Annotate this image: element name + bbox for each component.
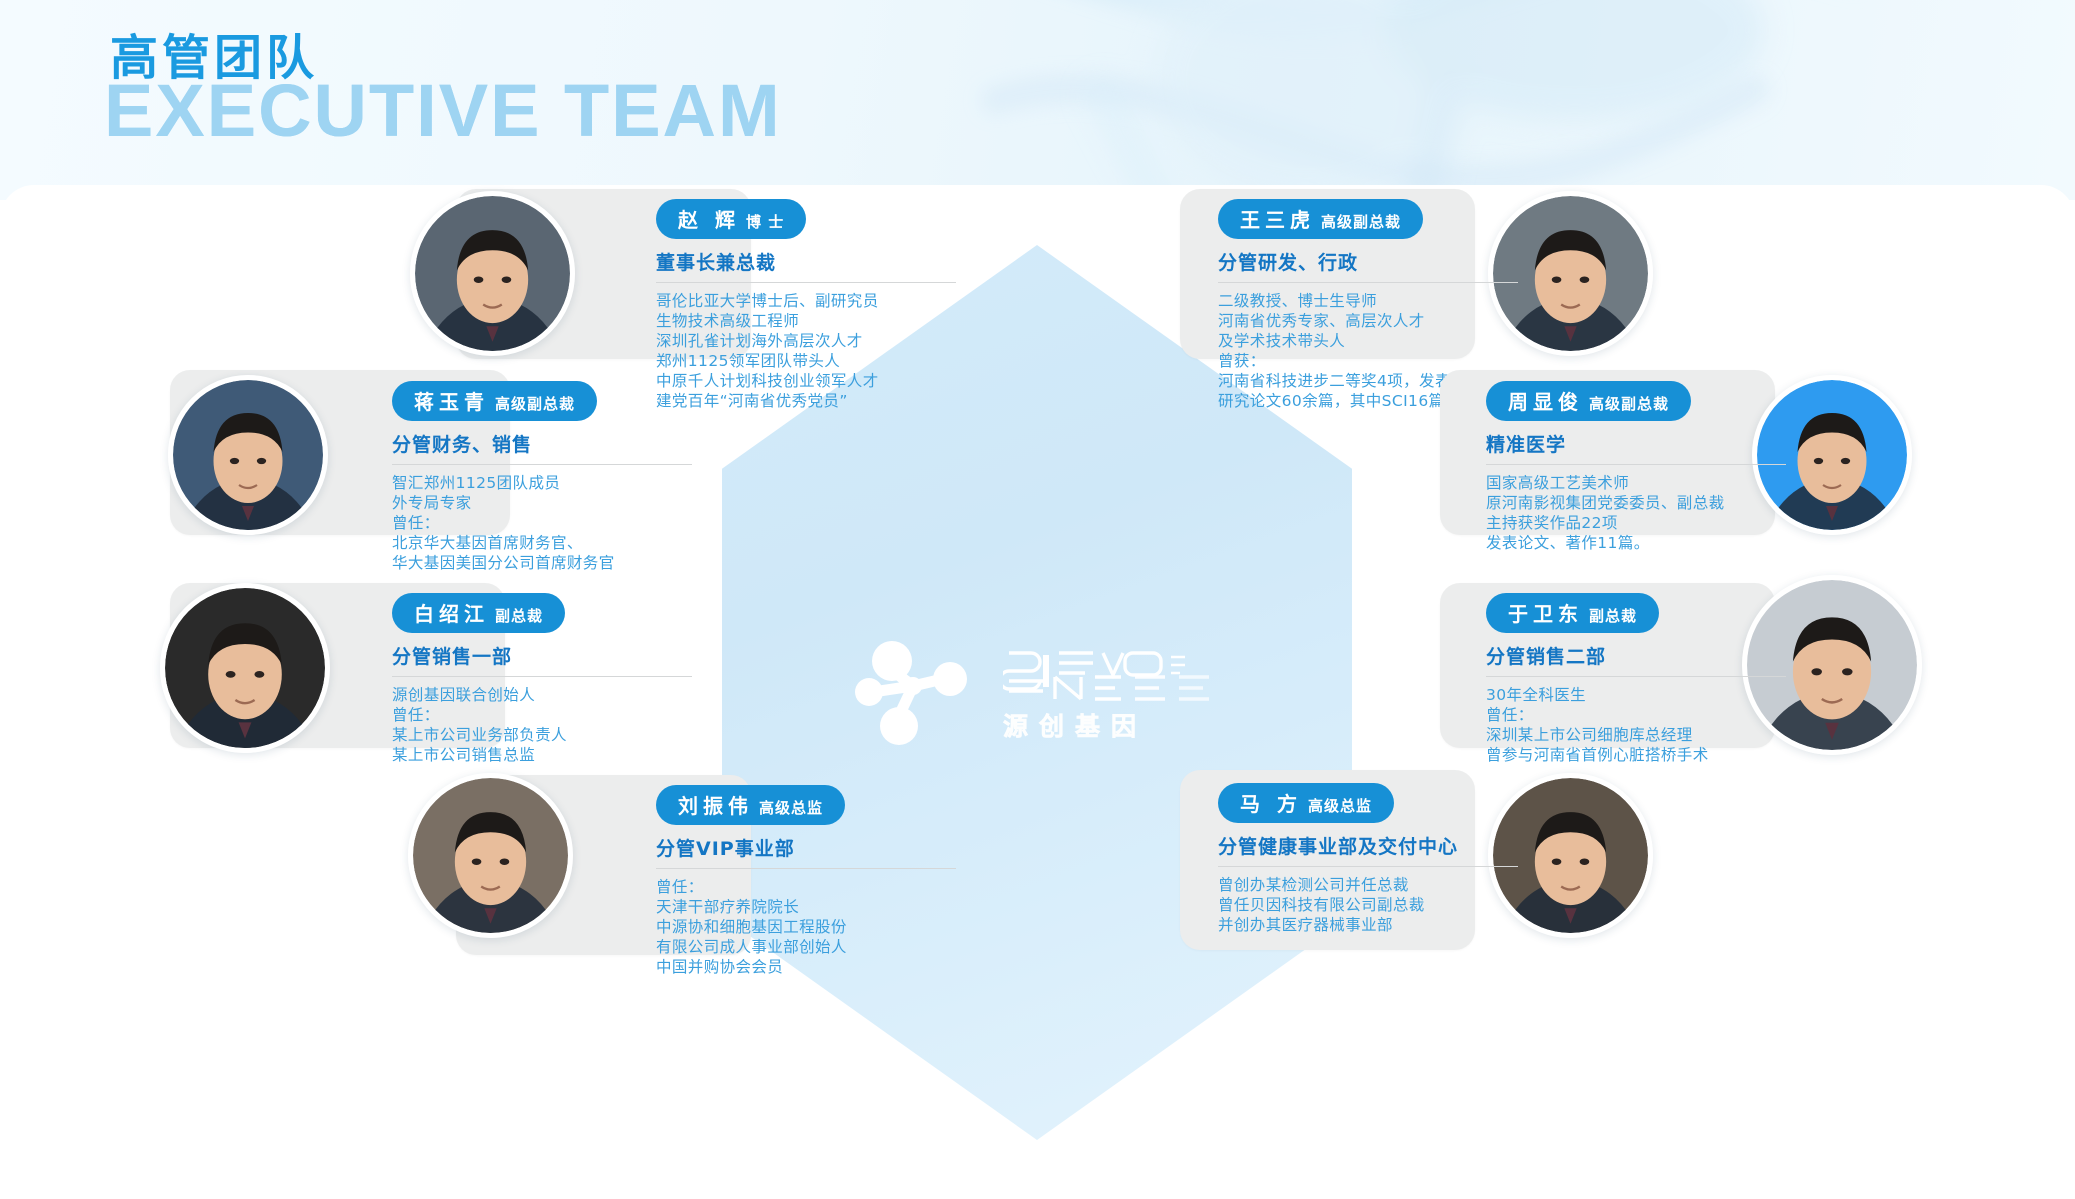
member-bio-line: 曾任： xyxy=(1486,705,1786,725)
member-photo[interactable] xyxy=(410,191,575,356)
logo-wordmark xyxy=(1003,641,1223,703)
member-bio-line: 华大基因美国分公司首席财务官 xyxy=(392,553,692,573)
member-name: 刘振伟 xyxy=(678,794,753,818)
member-name: 白绍江 xyxy=(414,602,489,626)
member-bio-line: 某上市公司业务部负责人 xyxy=(392,725,692,745)
member-photo[interactable] xyxy=(408,773,573,938)
member-role: 董事长兼总裁 xyxy=(656,248,956,275)
member-role: 分管健康事业部及交付中心 xyxy=(1218,832,1518,859)
divider xyxy=(1218,866,1518,867)
divider xyxy=(1486,676,1786,677)
member-name: 王三虎 xyxy=(1240,208,1315,232)
member-bio: 哥伦比亚大学博士后、副研究员生物技术高级工程师深圳孔雀计划海外高层次人才郑州11… xyxy=(656,291,956,411)
divider xyxy=(656,868,956,869)
member-role: 分管财务、销售 xyxy=(392,430,692,457)
member-title: 高级副总裁 xyxy=(1321,213,1401,231)
member-bio-line: 天津干部疗养院院长 xyxy=(656,897,956,917)
member-bio-line: 深圳某上市公司细胞库总经理 xyxy=(1486,725,1786,745)
member-bio-line: 中原千人计划科技创业领军人才 xyxy=(656,371,956,391)
member-info: 于卫东副总裁 分管销售二部 30年全科医生曾任：深圳某上市公司细胞库总经理曾参与… xyxy=(1486,593,1786,765)
member-bio-line: 河南省优秀专家、高层次人才 xyxy=(1218,311,1518,331)
team-stage: 源创基因 赵 辉博 士 董事长兼总裁 哥伦比亚大学博士后、副研究员生物技术 xyxy=(0,185,2075,1199)
member-bio-line: 曾任： xyxy=(392,513,692,533)
member-info: 赵 辉博 士 董事长兼总裁 哥伦比亚大学博士后、副研究员生物技术高级工程师深圳孔… xyxy=(656,199,956,411)
member-bio-line: 源创基因联合创始人 xyxy=(392,685,692,705)
member-bio-line: 二级教授、博士生导师 xyxy=(1218,291,1518,311)
member-badge: 白绍江副总裁 xyxy=(392,593,565,633)
member-bio-line: 深圳孔雀计划海外高层次人才 xyxy=(656,331,956,351)
member-bio-line: 曾获： xyxy=(1218,351,1518,371)
member-bio-line: 某上市公司销售总监 xyxy=(392,745,692,765)
molecule-logo-icon xyxy=(851,634,979,750)
divider xyxy=(656,282,956,283)
divider xyxy=(1486,464,1786,465)
member-badge: 蒋玉青高级副总裁 xyxy=(392,381,597,421)
dna-helix-graphic xyxy=(875,0,2075,200)
member-role: 精准医学 xyxy=(1486,430,1786,457)
member-bio-line: 30年全科医生 xyxy=(1486,685,1786,705)
member-name: 周显俊 xyxy=(1508,390,1583,414)
member-title: 高级副总裁 xyxy=(495,395,575,413)
divider xyxy=(1218,282,1518,283)
member-bio-line: 曾任： xyxy=(656,877,956,897)
member-bio-line: 中国并购协会会员 xyxy=(656,957,956,977)
member-bio-line: 外专局专家 xyxy=(392,493,692,513)
member-bio: 国家高级工艺美术师原河南影视集团党委委员、副总裁主持获奖作品22项发表论文、著作… xyxy=(1486,473,1786,553)
member-title: 副总裁 xyxy=(495,607,543,625)
member-bio-line: 哥伦比亚大学博士后、副研究员 xyxy=(656,291,956,311)
member-info: 马 方高级总监 分管健康事业部及交付中心 曾创办某检测公司并任总裁曾任贝因科技有… xyxy=(1218,783,1518,935)
page-header: 高管团队 EXECUTIVE TEAM xyxy=(0,0,2075,200)
member-bio: 智汇郑州1125团队成员外专局专家曾任：北京华大基因首席财务官、华大基因美国分公… xyxy=(392,473,692,573)
member-title: 副总裁 xyxy=(1589,607,1637,625)
divider xyxy=(392,464,692,465)
member-photo[interactable] xyxy=(160,583,330,753)
member-bio: 30年全科医生曾任：深圳某上市公司细胞库总经理曾参与河南省首例心脏搭桥手术 xyxy=(1486,685,1786,765)
member-badge: 马 方高级总监 xyxy=(1218,783,1394,823)
member-title: 高级总监 xyxy=(759,799,823,817)
member-bio: 曾创办某检测公司并任总裁曾任贝因科技有限公司副总裁并创办其医疗器械事业部 xyxy=(1218,875,1518,935)
member-title: 博 士 xyxy=(746,213,784,231)
member-info: 周显俊高级副总裁 精准医学 国家高级工艺美术师原河南影视集团党委委员、副总裁主持… xyxy=(1486,381,1786,553)
member-bio-line: 智汇郑州1125团队成员 xyxy=(392,473,692,493)
member-bio-line: 及学术技术带头人 xyxy=(1218,331,1518,351)
member-bio-line: 主持获奖作品22项 xyxy=(1486,513,1786,533)
member-badge: 于卫东副总裁 xyxy=(1486,593,1659,633)
member-bio-line: 建党百年“河南省优秀党员” xyxy=(656,391,956,411)
page-title-en: EXECUTIVE TEAM xyxy=(104,68,782,153)
member-bio-line: 生物技术高级工程师 xyxy=(656,311,956,331)
member-bio-line: 发表论文、著作11篇。 xyxy=(1486,533,1786,553)
member-bio-line: 北京华大基因首席财务官、 xyxy=(392,533,692,553)
member-bio-line: 曾创办某检测公司并任总裁 xyxy=(1218,875,1518,895)
member-bio-line: 原河南影视集团党委委员、副总裁 xyxy=(1486,493,1786,513)
member-name: 蒋玉青 xyxy=(414,390,489,414)
member-info: 刘振伟高级总监 分管VIP事业部 曾任：天津干部疗养院院长中源协和细胞基因工程股… xyxy=(656,785,956,977)
member-role: 分管研发、行政 xyxy=(1218,248,1518,275)
member-bio-line: 曾任： xyxy=(392,705,692,725)
company-logo: 源创基因 xyxy=(722,627,1352,757)
logo-chinese-name: 源创基因 xyxy=(1003,707,1223,743)
member-bio-line: 有限公司成人事业部创始人 xyxy=(656,937,956,957)
member-bio-line: 郑州1125领军团队带头人 xyxy=(656,351,956,371)
member-badge: 刘振伟高级总监 xyxy=(656,785,845,825)
member-bio-line: 曾参与河南省首例心脏搭桥手术 xyxy=(1486,745,1786,765)
member-name: 于卫东 xyxy=(1508,602,1583,626)
member-bio: 源创基因联合创始人曾任：某上市公司业务部负责人某上市公司销售总监 xyxy=(392,685,692,765)
member-role: 分管VIP事业部 xyxy=(656,834,956,861)
member-title: 高级总监 xyxy=(1308,797,1372,815)
divider xyxy=(392,676,692,677)
member-role: 分管销售一部 xyxy=(392,642,692,669)
member-info: 白绍江副总裁 分管销售一部 源创基因联合创始人曾任：某上市公司业务部负责人某上市… xyxy=(392,593,692,765)
member-bio-line: 中源协和细胞基因工程股份 xyxy=(656,917,956,937)
member-title: 高级副总裁 xyxy=(1589,395,1669,413)
member-badge: 王三虎高级副总裁 xyxy=(1218,199,1423,239)
member-bio: 曾任：天津干部疗养院院长中源协和细胞基因工程股份有限公司成人事业部创始人中国并购… xyxy=(656,877,956,977)
member-photo[interactable] xyxy=(168,375,328,535)
member-bio-line: 国家高级工艺美术师 xyxy=(1486,473,1786,493)
member-role: 分管销售二部 xyxy=(1486,642,1786,669)
member-bio-line: 并创办其医疗器械事业部 xyxy=(1218,915,1518,935)
member-bio-line: 曾任贝因科技有限公司副总裁 xyxy=(1218,895,1518,915)
member-name: 马 方 xyxy=(1240,792,1302,816)
member-info: 蒋玉青高级副总裁 分管财务、销售 智汇郑州1125团队成员外专局专家曾任：北京华… xyxy=(392,381,692,573)
member-badge: 周显俊高级副总裁 xyxy=(1486,381,1691,421)
member-name: 赵 辉 xyxy=(678,208,740,232)
member-badge: 赵 辉博 士 xyxy=(656,199,806,239)
